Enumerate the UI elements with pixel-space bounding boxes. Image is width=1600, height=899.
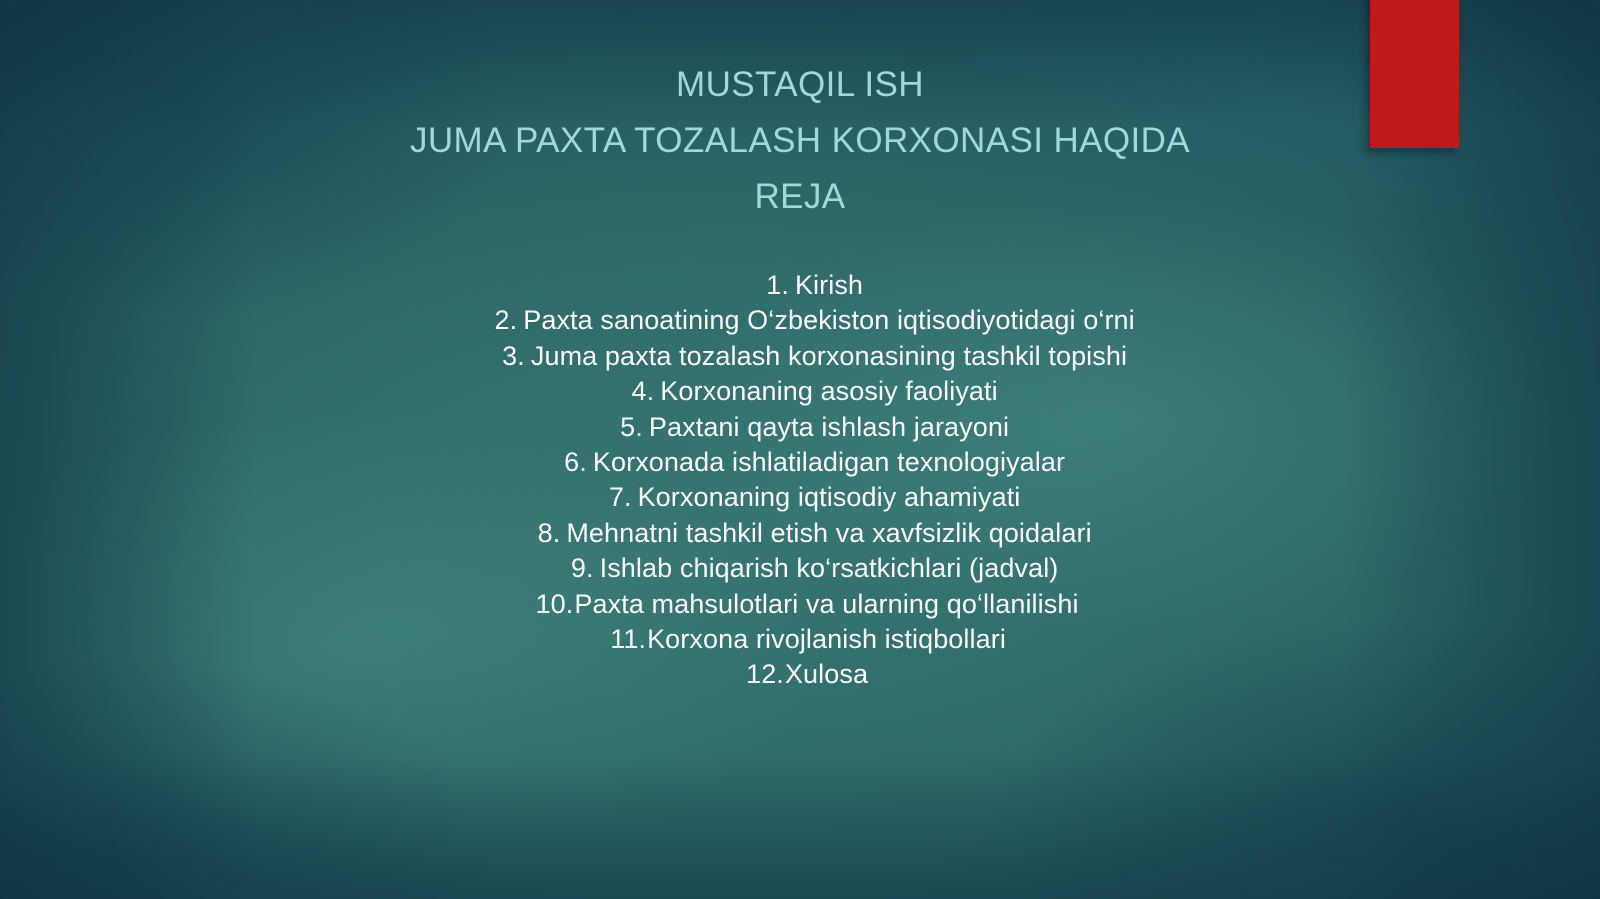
- list-item: 6.Korxonada ishlatiladigan texnologiyala…: [0, 445, 1600, 480]
- list-item: 3.Juma paxta tozalash korxonasining tash…: [0, 339, 1600, 374]
- list-item-number: 8.: [508, 516, 566, 551]
- list-item: 2.Paxta sanoatining O‘zbekiston iqtisodi…: [0, 303, 1600, 338]
- list-item-number: 2.: [465, 303, 523, 338]
- list-item-label: Juma paxta tozalash korxonasining tashki…: [531, 341, 1127, 371]
- slide-content: MUSTAQIL ISH JUMA PAXTA TOZALASH KORXONA…: [0, 0, 1600, 899]
- list-item-number: 5.: [591, 410, 649, 445]
- list-item-number: 10.: [521, 587, 574, 622]
- list-item-number: 9.: [542, 551, 600, 586]
- list-item-label: Korxona rivojlanish istiqbollari: [647, 624, 1006, 654]
- list-item-number: 6.: [535, 445, 593, 480]
- list-item-label: Xulosa: [785, 659, 868, 689]
- agenda-list: 1.Kirish 2.Paxta sanoatining O‘zbekiston…: [0, 268, 1600, 693]
- list-item-label: Kirish: [795, 270, 863, 300]
- list-item-label: Mehnatni tashkil etish va xavfsizlik qoi…: [566, 518, 1091, 548]
- list-item: 4.Korxonaning asosiy faoliyati: [0, 374, 1600, 409]
- list-item: 8.Mehnatni tashkil etish va xavfsizlik q…: [0, 516, 1600, 551]
- list-item: 9.Ishlab chiqarish ko‘rsatkichlari (jadv…: [0, 551, 1600, 586]
- list-item: 7.Korxonaning iqtisodiy ahamiyati: [0, 480, 1600, 515]
- list-item-number: 12.: [732, 657, 785, 692]
- slide-title-line-3: REJA: [0, 169, 1600, 225]
- list-item-number: 1.: [737, 268, 795, 303]
- list-item: 12.Xulosa: [0, 657, 1600, 692]
- list-item-label: Korxonaning asosiy faoliyati: [660, 376, 998, 406]
- slide-title-line-1: MUSTAQIL ISH: [0, 57, 1600, 113]
- slide-title-block: MUSTAQIL ISH JUMA PAXTA TOZALASH KORXONA…: [0, 57, 1600, 225]
- presentation-slide: MUSTAQIL ISH JUMA PAXTA TOZALASH KORXONA…: [0, 0, 1600, 899]
- list-item-number: 4.: [602, 374, 660, 409]
- list-item: 10.Paxta mahsulotlari va ularning qo‘lla…: [0, 587, 1600, 622]
- list-item-label: Ishlab chiqarish ko‘rsatkichlari (jadval…: [600, 553, 1059, 583]
- list-item: 11.Korxona rivojlanish istiqbollari: [0, 622, 1600, 657]
- list-item-number: 7.: [580, 480, 638, 515]
- list-item-label: Korxonada ishlatiladigan texnologiyalar: [593, 447, 1065, 477]
- list-item-number: 3.: [473, 339, 531, 374]
- list-item-number: 11.: [594, 622, 647, 657]
- list-item: 1.Kirish: [0, 268, 1600, 303]
- slide-title-line-2: JUMA PAXTA TOZALASH KORXONASI HAQIDA: [0, 113, 1600, 169]
- list-item-label: Paxta sanoatining O‘zbekiston iqtisodiyo…: [523, 305, 1135, 335]
- list-item-label: Korxonaning iqtisodiy ahamiyati: [638, 482, 1021, 512]
- list-item-label: Paxtani qayta ishlash jarayoni: [649, 412, 1009, 442]
- list-item-label: Paxta mahsulotlari va ularning qo‘llanil…: [574, 589, 1078, 619]
- list-item: 5.Paxtani qayta ishlash jarayoni: [0, 410, 1600, 445]
